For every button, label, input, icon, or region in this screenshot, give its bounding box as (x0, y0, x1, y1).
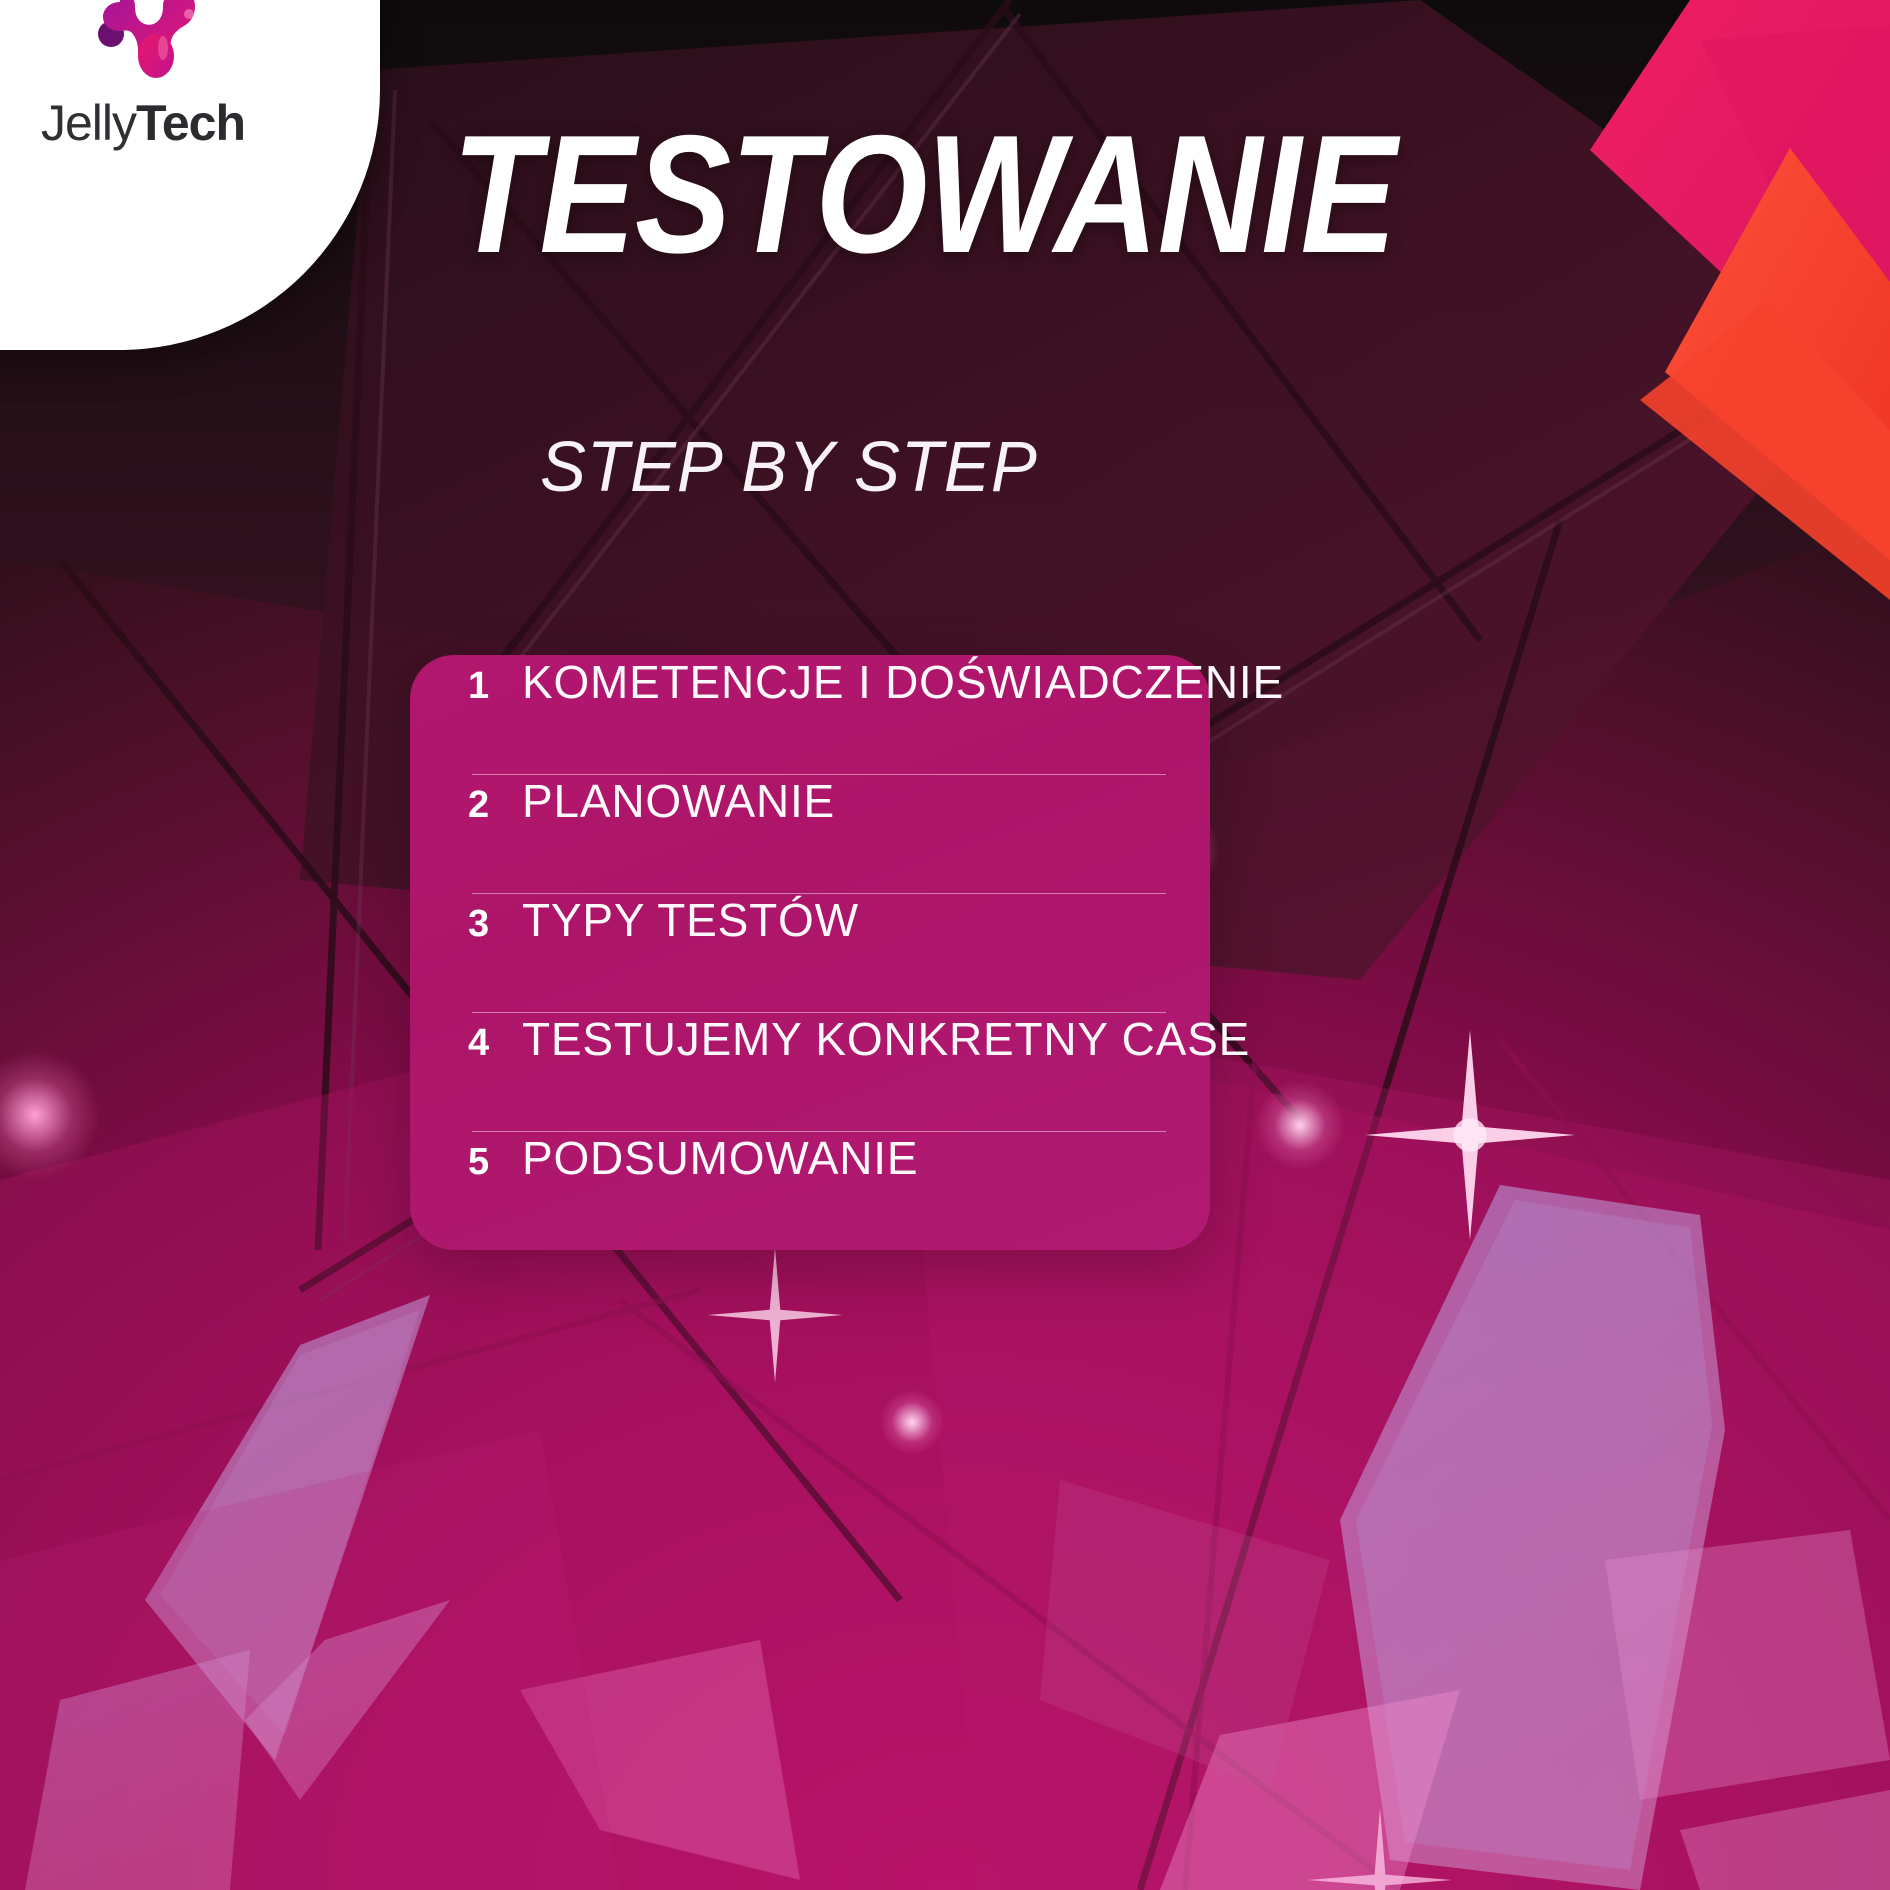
agenda-card: 1 KOMETENCJE I DOŚWIADCZENIE 2 PLANOWANI… (410, 655, 1210, 1250)
agenda-item-label: TESTUJEMY KONKRETNY CASE (522, 1012, 1250, 1066)
agenda-item-5[interactable]: 5 PODSUMOWANIE (468, 1131, 1152, 1250)
agenda-item-1[interactable]: 1 KOMETENCJE I DOŚWIADCZENIE (468, 655, 1152, 774)
agenda-item-number: 2 (468, 784, 522, 827)
poster-canvas: JellyTech TESTOWANIE STEP BY STEP 1 KOME… (0, 0, 1890, 1890)
agenda-item-number: 5 (468, 1141, 522, 1184)
agenda-item-number: 4 (468, 1022, 522, 1065)
brand-wordmark: JellyTech (41, 94, 245, 152)
agenda-item-4[interactable]: 4 TESTUJEMY KONKRETNY CASE (468, 1012, 1152, 1131)
brand-name-bold: Tech (136, 95, 245, 151)
jelly-molecule-logo-icon (68, 0, 218, 88)
page-subtitle: STEP BY STEP (540, 432, 1038, 503)
agenda-item-label: PODSUMOWANIE (522, 1131, 918, 1185)
brand-name-light: Jelly (41, 95, 136, 151)
agenda-item-label: KOMETENCJE I DOŚWIADCZENIE (522, 655, 1284, 709)
page-title: TESTOWANIE (452, 110, 1396, 278)
agenda-item-label: PLANOWANIE (522, 774, 835, 828)
agenda-item-3[interactable]: 3 TYPY TESTÓW (468, 893, 1152, 1012)
agenda-item-label: TYPY TESTÓW (522, 893, 859, 947)
agenda-item-number: 1 (468, 665, 522, 708)
agenda-item-number: 3 (468, 903, 522, 946)
agenda-item-2[interactable]: 2 PLANOWANIE (468, 774, 1152, 893)
brand-logo: JellyTech (0, 0, 308, 228)
